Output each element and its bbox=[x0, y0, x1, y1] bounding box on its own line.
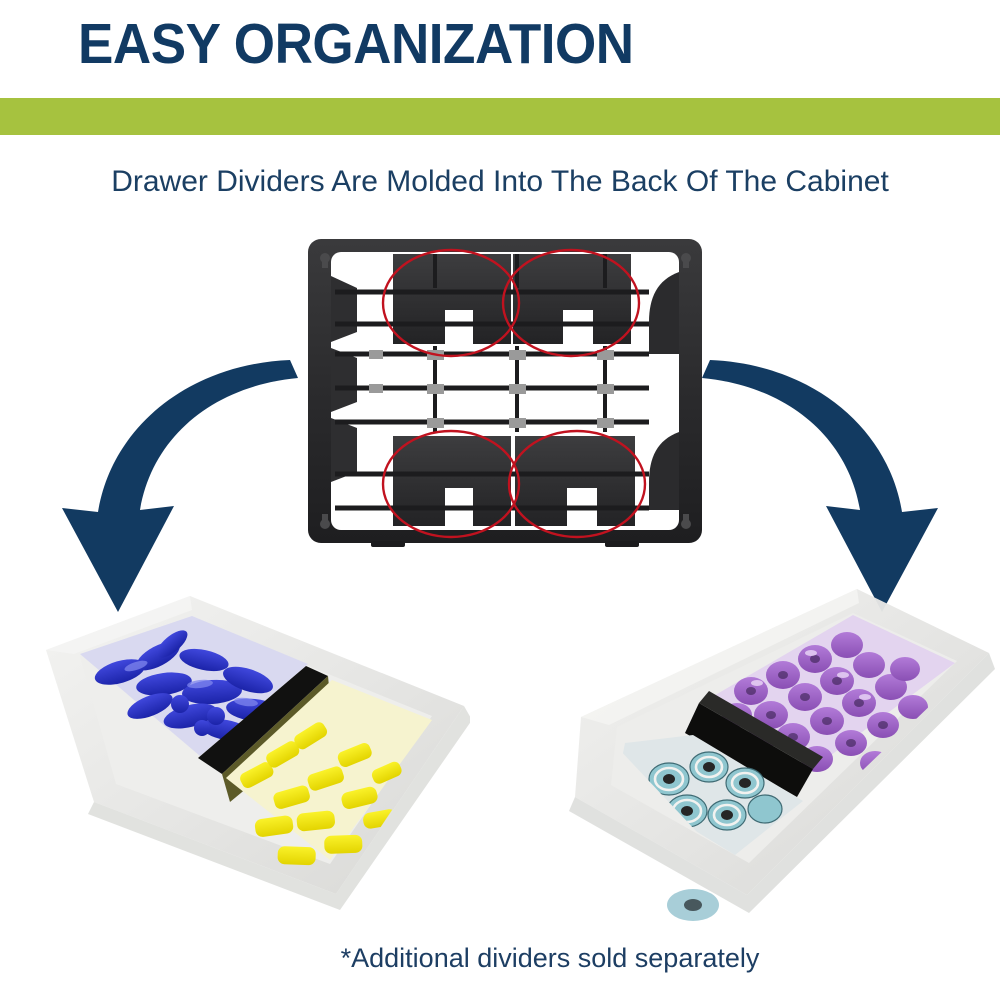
left-rail-2 bbox=[331, 348, 357, 412]
infographic-page: EASY ORGANIZATION Drawer Dividers Are Mo… bbox=[0, 0, 1000, 1000]
arrow-left-shape bbox=[62, 360, 298, 612]
page-title: EASY ORGANIZATION bbox=[78, 14, 634, 74]
subtitle: Drawer Dividers Are Molded Into The Back… bbox=[0, 163, 1000, 201]
accent-bar bbox=[0, 98, 1000, 135]
drawer-bin-blue-yellow bbox=[40, 588, 470, 918]
arrow-left-svg bbox=[40, 360, 330, 615]
cabinet-back-panel-image bbox=[305, 236, 705, 548]
arrow-right-shape bbox=[702, 360, 938, 612]
arrow-left bbox=[40, 360, 330, 615]
arrow-right-svg bbox=[670, 360, 960, 615]
footnote: *Additional dividers sold separately bbox=[0, 941, 1000, 975]
bin-left-svg bbox=[40, 588, 470, 918]
bin-right-svg bbox=[565, 583, 995, 928]
front-hardware bbox=[667, 889, 719, 921]
cabinet-svg bbox=[305, 236, 705, 548]
arrow-right bbox=[670, 360, 960, 615]
drawer-bin-purple-silver bbox=[565, 583, 995, 928]
